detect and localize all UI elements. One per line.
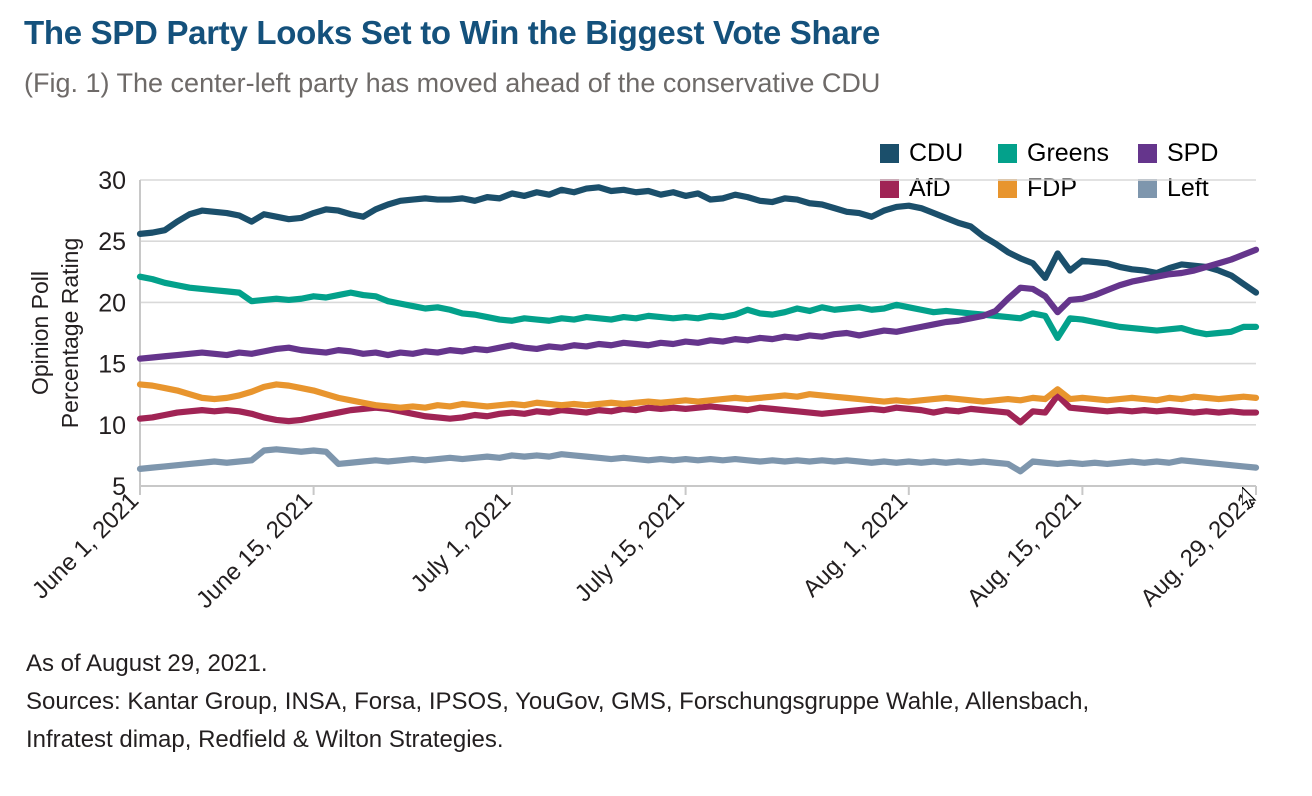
series-line-left <box>140 449 1256 471</box>
x-tick-label: Aug. 15, 2021 <box>962 487 1087 612</box>
axis-lines <box>140 180 1256 495</box>
y-tick-label: 15 <box>98 351 126 379</box>
series-line-fdp <box>140 384 1256 407</box>
chart-plot-area: 51015202530 June 1, 2021June 15, 2021Jul… <box>0 0 1312 640</box>
x-axis-ticks: June 1, 2021June 15, 2021July 1, 2021Jul… <box>27 487 1260 614</box>
series-line-cdu <box>140 187 1256 292</box>
y-tick-label: 25 <box>98 228 126 256</box>
mouse-cursor-icon <box>1242 487 1258 511</box>
footnote: As of August 29, 2021. Sources: Kantar G… <box>26 645 1089 759</box>
y-axis-title: Opinion PollPercentage Rating <box>27 238 83 429</box>
x-tick-label: Aug. 1, 2021 <box>798 487 913 602</box>
series-line-greens <box>140 277 1256 338</box>
series-line-spd <box>140 250 1256 359</box>
line-chart-svg: 51015202530 June 1, 2021June 15, 2021Jul… <box>0 0 1312 640</box>
footnote-line-1: As of August 29, 2021. <box>26 645 1089 683</box>
y-tick-label: 30 <box>98 167 126 195</box>
y-axis-ticks: 51015202530 <box>98 167 126 501</box>
x-tick-label: June 1, 2021 <box>27 487 144 604</box>
x-tick-label: June 15, 2021 <box>191 487 318 614</box>
chart-page: The SPD Party Looks Set to Win the Bigge… <box>0 0 1312 796</box>
x-tick-label: July 1, 2021 <box>406 487 517 598</box>
footnote-line-3: Infratest dimap, Redfield & Wilton Strat… <box>26 721 1089 759</box>
data-series <box>140 187 1256 471</box>
x-tick-label: July 15, 2021 <box>570 487 690 607</box>
footnote-line-2: Sources: Kantar Group, INSA, Forsa, IPSO… <box>26 683 1089 721</box>
y-axis-title-line-2: Percentage Rating <box>57 238 83 429</box>
y-axis-title-line-1: Opinion Poll <box>27 271 53 395</box>
y-tick-label: 20 <box>98 289 126 317</box>
y-tick-label: 10 <box>98 412 126 440</box>
